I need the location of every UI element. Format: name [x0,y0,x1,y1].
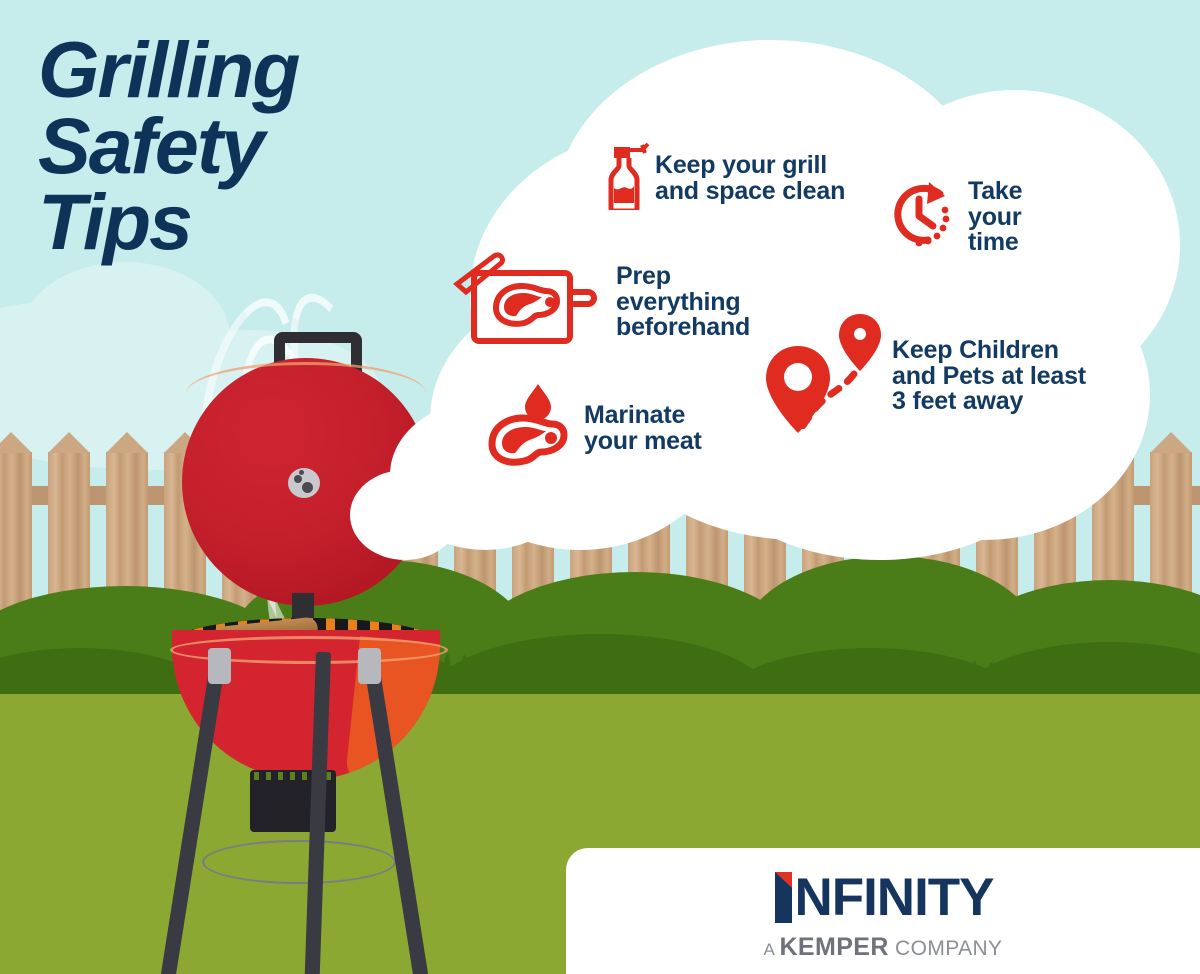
logo-tagline-company: COMPANY [889,937,1003,960]
grill-leg-cap-right [358,648,381,684]
grill-vent-icon [288,468,320,498]
marinade-drop-steak-icon [486,382,570,475]
tip-marinate: Marinate your meat [486,382,702,475]
tip-marinate-label: Marinate your meat [584,403,702,454]
tip-clean: Keep your grill and space clean [602,142,845,215]
logo-tagline-a: A [764,940,780,959]
page-title: Grilling Safety Tips [38,32,468,259]
tip-clean-label: Keep your grill and space clean [655,153,845,204]
tip-prep: Prep everything beforehand [452,250,750,355]
logo-tagline-kemper: KEMPER [779,933,888,961]
logo-wordmark: NFINITY [566,870,1200,924]
grill-lid-rim [186,362,426,425]
tip-prep-label: Prep everything beforehand [616,264,750,341]
spray-bottle-icon [602,142,654,215]
tip-time: Take your time [878,174,1022,261]
logo-tagline: A KEMPER COMPANY [566,933,1200,962]
charcoal-grill [150,300,440,950]
infographic-canvas: Grilling Safety Tips Keep your grill and… [0,0,1200,974]
bubble-lobe-tail-1 [378,498,448,556]
tip-distance: Keep Children and Pets at least 3 feet a… [764,312,1086,441]
map-pins-distance-icon [764,312,884,441]
tip-time-label: Take your time [968,179,1022,256]
logo-wordmark-rest: NFINITY [794,868,993,927]
logo-red-accent-i [772,870,794,924]
footer-panel: NFINITY A KEMPER COMPANY [566,848,1200,974]
cutting-board-knife-icon [452,250,602,355]
leg-support-ring [202,840,396,884]
grill-leg-cap-left [208,648,231,684]
infinity-logo: NFINITY A KEMPER COMPANY [566,870,1200,962]
tip-distance-label: Keep Children and Pets at least 3 feet a… [892,338,1086,415]
clock-arrow-icon [878,174,960,261]
